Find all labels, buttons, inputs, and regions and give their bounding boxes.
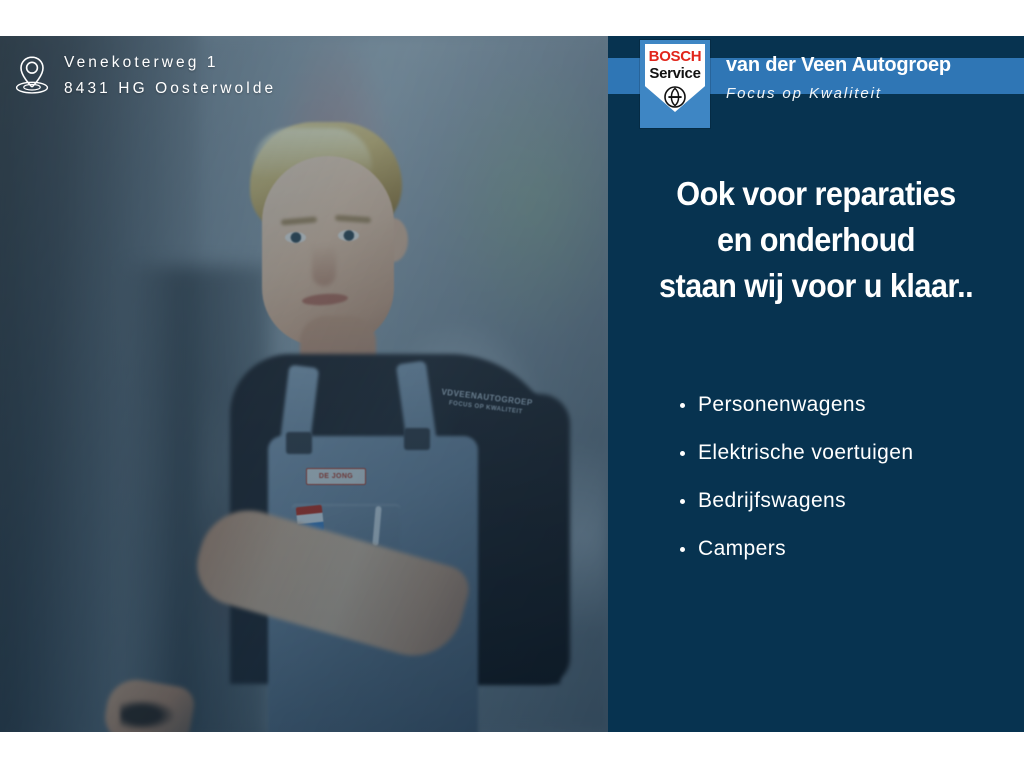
list-item: Bedrijfswagens [680, 477, 1020, 525]
bosch-service-logo: BOSCH Service [640, 40, 710, 128]
service-label: Elektrische voertuigen [698, 429, 913, 477]
info-panel: BOSCH Service van der Veen Autogroep Foc… [608, 36, 1024, 732]
services-list: Personenwagens Elektrische voertuigen Be… [680, 381, 1020, 573]
headline-line-3: staan wij voor u klaar.. [623, 263, 1010, 309]
bullet-icon [680, 451, 685, 456]
bosch-wordmark: BOSCH [640, 48, 710, 65]
address-lines: Venekoterweg 1 8431 HG Oosterwolde [64, 50, 276, 102]
map-pin-icon [14, 54, 50, 96]
list-item: Personenwagens [680, 381, 1020, 429]
bullet-icon [680, 499, 685, 504]
bosch-service-wordmark: Service [640, 65, 710, 82]
service-label: Personenwagens [698, 381, 866, 429]
advertisement-banner: VDVEENAUTOGROEP FOCUS OP KWALITEIT DE JO… [0, 36, 1024, 732]
company-name: van der Veen Autogroep [726, 54, 951, 76]
list-item: Elektrische voertuigen [680, 429, 1020, 477]
headline-line-2: en onderhoud [623, 217, 1010, 263]
list-item: Campers [680, 525, 1020, 573]
bullet-icon [680, 403, 685, 408]
headline-line-1: Ook voor reparaties [623, 171, 1010, 217]
brand-header: BOSCH Service van der Veen Autogroep Foc… [608, 40, 1024, 136]
company-tagline: Focus op Kwaliteit [726, 85, 951, 102]
service-label: Bedrijfswagens [698, 477, 846, 525]
address-city: 8431 HG Oosterwolde [64, 76, 276, 102]
photo-gradient-overlay [0, 36, 608, 732]
bosch-armature-icon [664, 86, 686, 108]
mechanic-photo: VDVEENAUTOGROEP FOCUS OP KWALITEIT DE JO… [0, 36, 608, 732]
headline: Ook voor reparaties en onderhoud staan w… [623, 171, 1010, 309]
address-block: Venekoterweg 1 8431 HG Oosterwolde [14, 50, 276, 102]
brand-text-block: van der Veen Autogroep Focus op Kwalitei… [726, 40, 951, 102]
bullet-icon [680, 547, 685, 552]
address-street: Venekoterweg 1 [64, 50, 276, 76]
service-label: Campers [698, 525, 786, 573]
